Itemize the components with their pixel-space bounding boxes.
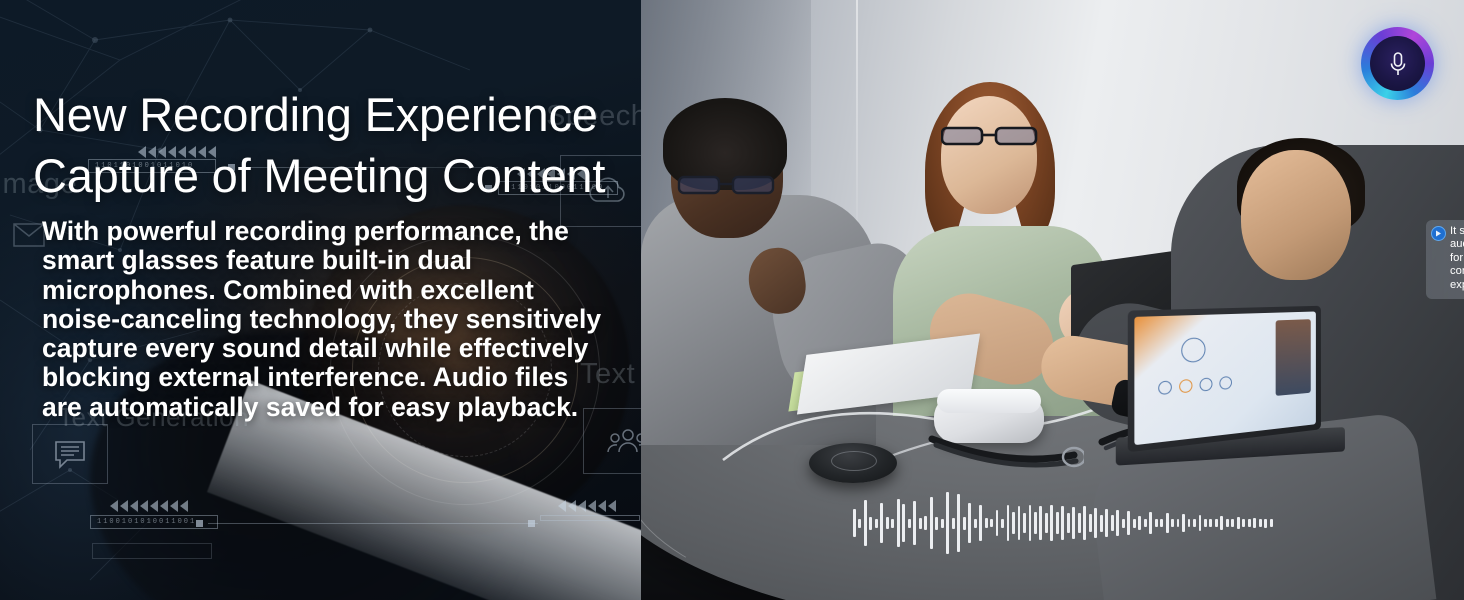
waveform-bar [1248, 519, 1251, 527]
chevron-row-bottom-right [558, 500, 616, 512]
audio-waveform [853, 492, 1273, 554]
hud-square-bottom [196, 520, 203, 527]
waveform-bar [1188, 519, 1191, 527]
waveform-bar [869, 517, 872, 530]
waveform-bar [1039, 506, 1042, 540]
microphone-icon [1388, 51, 1408, 77]
waveform-bar [1149, 512, 1152, 534]
waveform-bar [858, 519, 861, 528]
hud-square-bottom-right [528, 520, 535, 527]
waveform-bar [1215, 519, 1218, 527]
waveform-bar [1018, 506, 1021, 540]
people-group-icon [607, 426, 641, 456]
waveform-bar [1199, 515, 1202, 531]
waveform-bar [1144, 519, 1147, 527]
waveform-bar [1094, 508, 1097, 538]
waveform-bar [1231, 519, 1234, 527]
waveform-bar [1116, 510, 1119, 536]
waveform-bar [1220, 516, 1223, 530]
waveform-bar [902, 504, 905, 542]
waveform-bar [941, 519, 944, 528]
waveform-bar [935, 517, 938, 530]
chevron-row-bottom [110, 500, 188, 512]
waveform-bar [946, 492, 949, 554]
speech-bubble-left-text: It supports voice control for functions … [1450, 225, 1464, 291]
smart-glasses-on-table-1 [924, 425, 1084, 477]
waveform-bar [1259, 519, 1262, 527]
p2-smart-glasses-icon [941, 124, 1039, 148]
video-participant-tiles [1276, 319, 1311, 396]
waveform-bar [1001, 519, 1004, 528]
waveform-bar [1061, 506, 1064, 540]
voice-assistant-button[interactable] [1361, 27, 1434, 100]
waveform-bar [1237, 517, 1240, 529]
body-description: With powerful recording performance, the… [42, 217, 602, 422]
page-title-line-1: New Recording Experience [33, 84, 613, 145]
waveform-bar [1012, 512, 1015, 534]
waveform-bar [1171, 519, 1174, 527]
waveform-bar [930, 497, 933, 549]
waveform-bar [886, 517, 889, 529]
waveform-bar [1034, 512, 1037, 534]
waveform-bar [1078, 513, 1081, 533]
waveform-bar [1127, 511, 1130, 535]
waveform-bar [1155, 519, 1158, 527]
waveform-bar [1138, 516, 1141, 530]
waveform-bar [1182, 514, 1185, 532]
product-feature-banner: Speech Image Text Generation Text [0, 0, 1464, 600]
waveform-bar [952, 518, 955, 529]
speech-bubble-left: It supports voice control for functions … [1426, 220, 1464, 299]
right-photo-panel: It supports voice control for functions … [641, 0, 1464, 600]
waveform-bar [968, 503, 971, 543]
waveform-bar [1226, 519, 1229, 527]
waveform-bar [1133, 519, 1136, 528]
chat-lines-icon [52, 438, 88, 470]
waveform-bar [1050, 505, 1053, 541]
video-call-ui [1134, 311, 1315, 445]
play-circle-icon [1431, 226, 1446, 241]
hud-frame-bottom [92, 543, 212, 559]
waveform-bar [1209, 519, 1212, 527]
waveform-bar [1264, 519, 1267, 528]
hud-line-bottom [208, 523, 538, 524]
waveform-bar [1089, 514, 1092, 532]
waveform-bar [1056, 512, 1059, 534]
page-title-line-2: Capture of Meeting Content [33, 145, 613, 206]
waveform-bar [1177, 519, 1180, 527]
p2-head [941, 96, 1037, 214]
waveform-bar [963, 517, 966, 530]
waveform-bar [1204, 519, 1207, 527]
left-text-panel: Speech Image Text Generation Text [0, 0, 641, 600]
waveform-bar [1111, 515, 1114, 531]
waveform-bar [1270, 519, 1273, 527]
waveform-bar [919, 518, 922, 529]
waveform-bar [1072, 507, 1075, 539]
waveform-bar [979, 505, 982, 541]
mic-button-inner [1370, 36, 1425, 91]
waveform-bar [1100, 515, 1103, 532]
waveform-bar [908, 519, 911, 528]
waveform-bar [864, 500, 867, 546]
waveform-bar [1122, 519, 1125, 528]
waveform-bar [1067, 513, 1070, 533]
code-chip-bottom-right [540, 515, 640, 521]
waveform-bar [1083, 506, 1086, 540]
p3-head [1241, 150, 1351, 280]
waveform-bar [1007, 505, 1010, 541]
waveform-bar [957, 494, 960, 552]
speakerphone-ring [831, 451, 877, 471]
waveform-bar [996, 510, 999, 536]
waveform-bar [1242, 519, 1245, 527]
waveform-bar [1029, 505, 1032, 541]
waveform-bar [853, 509, 856, 537]
waveform-bar [891, 519, 894, 528]
left-copy-block: New Recording Experience Capture of Meet… [33, 84, 613, 422]
waveform-bar [1045, 513, 1048, 533]
waveform-bar [897, 499, 900, 547]
waveform-bar [924, 516, 927, 530]
waveform-bar [880, 503, 883, 543]
chat-lines-box [32, 424, 108, 484]
waveform-bar [875, 519, 878, 528]
waveform-bar [1193, 519, 1196, 527]
p1-smart-glasses-icon [677, 174, 777, 196]
waveform-bar [1160, 519, 1163, 527]
waveform-bar [1023, 513, 1026, 533]
waveform-bar [1105, 509, 1108, 537]
waveform-bar [1253, 518, 1256, 528]
laptop-right-screen [1128, 306, 1321, 453]
waveform-bar [985, 518, 988, 528]
waveform-bar [990, 519, 993, 527]
waveform-bar [974, 519, 977, 528]
charging-case-lid [937, 389, 1041, 413]
waveform-bar [913, 501, 916, 545]
waveform-bar [1166, 513, 1169, 533]
